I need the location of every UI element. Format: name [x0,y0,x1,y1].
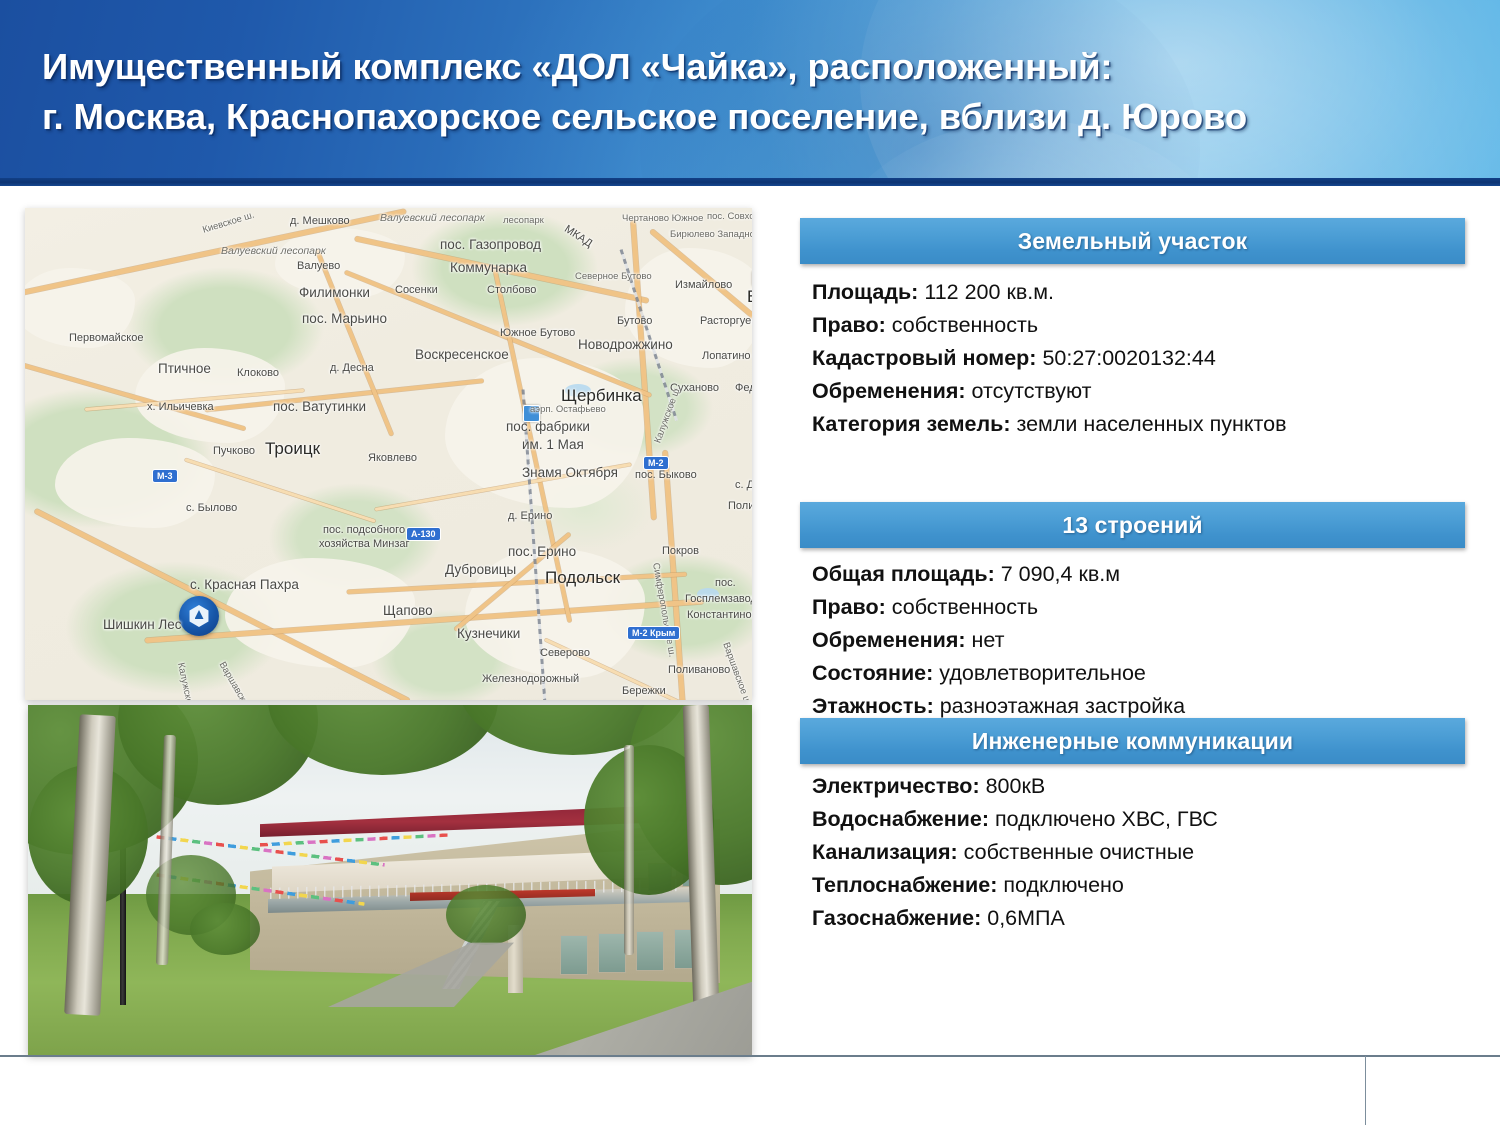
map-place-label: д. Десна [330,363,374,375]
map-road-shield: М-3 [153,470,177,482]
map-place-label: Бирюлево Западное [670,230,752,240]
info-value: 112 200 кв.м. [924,280,1054,304]
map-place-label: Валуево [297,261,340,273]
info-key: Обременения: [812,628,966,652]
building-window [560,935,588,975]
header-underline [0,178,1500,186]
map-place-label: Северово [540,648,590,660]
section-title: 13 строений [1062,512,1202,539]
map-place-label: Федюково [735,383,752,395]
info-key: Право: [812,313,886,337]
info-key: Обременения: [812,379,966,403]
map-place-label: пос. Марьино [302,312,387,326]
info-row: Состояние: удовлетворительное [812,657,1472,690]
footer-vertical-rule [1365,1056,1366,1125]
info-row: Теплоснабжение: подключено [812,869,1472,902]
map-place-label: Поливаново [728,501,752,513]
map-place-label: Щербинка [561,387,642,405]
info-row: Электричество: 800кВ [812,770,1472,803]
info-row: Обременения: отсутствуют [812,375,1472,408]
map-place-label: Покров [662,546,699,558]
map-place-label: Южное Бутово [500,328,575,340]
photo-shrub [190,903,260,955]
map-place-label: Подольск [545,569,620,587]
map-place-label: х. Ильичевка [147,402,214,414]
map-place-label: Троицк [265,440,320,458]
photo-shrub [446,885,526,945]
info-value: 50:27:0020132:44 [1042,346,1215,370]
map-place-label: пос. Ватутинки [273,400,366,414]
map-place-label: Шишкин Лес [103,618,182,632]
info-key: Электричество: [812,774,980,798]
map-place-label: Щапово [383,604,433,618]
map-place-label: Сосенки [395,285,438,297]
info-row: Канализация: собственные очистные [812,836,1472,869]
building-window [598,933,626,973]
map-place-label: Госплемзавода [685,594,752,606]
map-place-label: Коммунарка [450,261,527,275]
footer-divider [0,1055,1500,1057]
map-place-label: с. Былово [186,503,237,515]
section-title: Земельный участок [1018,228,1247,255]
map-place-label: Клоково [237,368,279,380]
info-value: земли населенных пунктов [1016,412,1286,436]
map-place-label: Воскресенское [415,348,509,362]
section-header-buildings: 13 строений [800,502,1465,548]
map-place-label: пос. подсобного [323,525,405,537]
info-value: собственность [892,313,1038,337]
page-title-line-1: Имущественный комплекс «ДОЛ «Чайка», рас… [42,42,1460,92]
map-place-label: Кузнечики [457,627,520,641]
info-row: Площадь: 112 200 кв.м. [812,276,1472,309]
info-value: 800кВ [986,774,1046,798]
map-place-label: Пучково [213,446,255,458]
map-place-label: им. 1 Мая [522,438,584,452]
info-row: Водоснабжение: подключено ХВС, ГВС [812,803,1472,836]
map-place-label: Расторгуево [700,316,752,328]
map-place-label: пос. фабрики [506,420,590,434]
info-key: Теплоснабжение: [812,873,997,897]
info-value: отсутствуют [972,379,1092,403]
map-place-label: аэрп. Остафьево [530,405,606,415]
info-row: Газоснабжение: 0,6МПА [812,902,1472,935]
info-key: Право: [812,595,886,619]
page-title: Имущественный комплекс «ДОЛ «Чайка», рас… [42,42,1460,142]
map-place-label: д. Мешково [290,216,350,228]
slide-root: Имущественный комплекс «ДОЛ «Чайка», рас… [0,0,1500,1125]
map-place-label: Бутово [617,316,652,328]
info-row: Категория земель: земли населенных пункт… [812,408,1472,441]
map-place-label: с. Домодедово [735,480,752,492]
map-place-label: пос. Ерино [508,545,576,559]
map-place-label: Валуевский лесопарк [221,246,326,257]
info-key: Общая площадь: [812,562,995,586]
section-header-land: Земельный участок [800,218,1465,264]
map-place-label: Яковлево [368,453,417,465]
map-place-label: Валуевский лесопарк [380,213,485,224]
map-place-label: Видное [747,288,752,306]
map-location-marker[interactable] [179,596,219,636]
slide-header: Имущественный комплекс «ДОЛ «Чайка», рас… [0,0,1500,186]
map-place-label: д. Ерино [508,511,552,523]
section-header-utilities: Инженерные коммуникации [800,718,1465,764]
section-title: Инженерные коммуникации [972,728,1293,755]
map-place-label: Северное Бутово [575,272,652,282]
info-row: Обременения: нет [812,624,1472,657]
info-value: подключено [1003,873,1124,897]
map-place-label: с. Красная Пахра [190,578,299,592]
map-place-label: пос. [715,578,736,590]
map-place-label: Дубровицы [445,563,516,577]
info-value: собственные очистные [964,840,1194,864]
map-place-label: хозяйства Минзаг [319,539,410,551]
info-value: 7 090,4 кв.м [1001,562,1120,586]
building-window [636,931,664,971]
map-place-label: пос. Быково [635,470,697,482]
map-place-label: Железнодорожный [482,674,579,686]
info-key: Площадь: [812,280,918,304]
map-place-label: Птичное [158,362,211,376]
map-place-label: Новодрожжино [578,338,673,352]
info-value: разноэтажная застройка [940,694,1185,718]
section-body-utilities: Электричество: 800кВ Водоснабжение: подк… [812,770,1472,935]
map-place-label: Бережки [622,686,666,698]
map-road-shield: М-2 [644,457,668,469]
map-place-label: Столбово [487,285,536,297]
map-canvas: д. МешковоКиевское ш.Валуевский лесопарк… [25,208,752,700]
map-road-shield: М-2 Крым [628,627,679,639]
map-place-label: Лопатино [702,351,751,363]
map-road-shield: А-130 [407,528,440,540]
info-row: Кадастровый номер: 50:27:0020132:44 [812,342,1472,375]
info-key: Состояние: [812,661,933,685]
photo-canvas [28,705,752,1055]
map-place-label: Чертаново Южное [622,214,703,224]
building-photo [28,705,752,1055]
info-key: Этажность: [812,694,934,718]
map-place-label: Константиново [687,610,752,622]
info-key: Кадастровый номер: [812,346,1036,370]
info-row: Право: собственность [812,591,1472,624]
page-title-line-2: г. Москва, Краснопахорское сельское посе… [42,92,1460,142]
info-value: 0,6МПА [987,906,1065,930]
info-value: собственность [892,595,1038,619]
section-body-land: Площадь: 112 200 кв.м. Право: собственно… [812,276,1472,441]
info-key: Газоснабжение: [812,906,981,930]
info-key: Канализация: [812,840,958,864]
map-place-label: пос. Совхоза им. Ленина [707,212,752,222]
section-body-buildings: Общая площадь: 7 090,4 кв.м Право: собст… [812,558,1472,723]
map-place-label: пос. Газопровод [440,238,541,252]
map-place-label: лесопарк [503,216,544,226]
map-place-label: Первомайское [69,333,143,345]
info-key: Водоснабжение: [812,807,989,831]
map-image: д. МешковоКиевское ш.Валуевский лесопарк… [25,208,752,700]
map-place-label: Измайлово [675,280,732,292]
info-value: удовлетворительное [939,661,1146,685]
info-value: подключено ХВС, ГВС [995,807,1218,831]
map-place-label: Поливаново [668,665,730,677]
photo-tree-trunk [624,745,634,955]
info-key: Категория земель: [812,412,1010,436]
info-value: нет [972,628,1005,652]
map-place-label: Знамя Октября [522,466,618,480]
info-row: Общая площадь: 7 090,4 кв.м [812,558,1472,591]
info-row: Право: собственность [812,309,1472,342]
map-place-label: Филимонки [299,286,370,300]
